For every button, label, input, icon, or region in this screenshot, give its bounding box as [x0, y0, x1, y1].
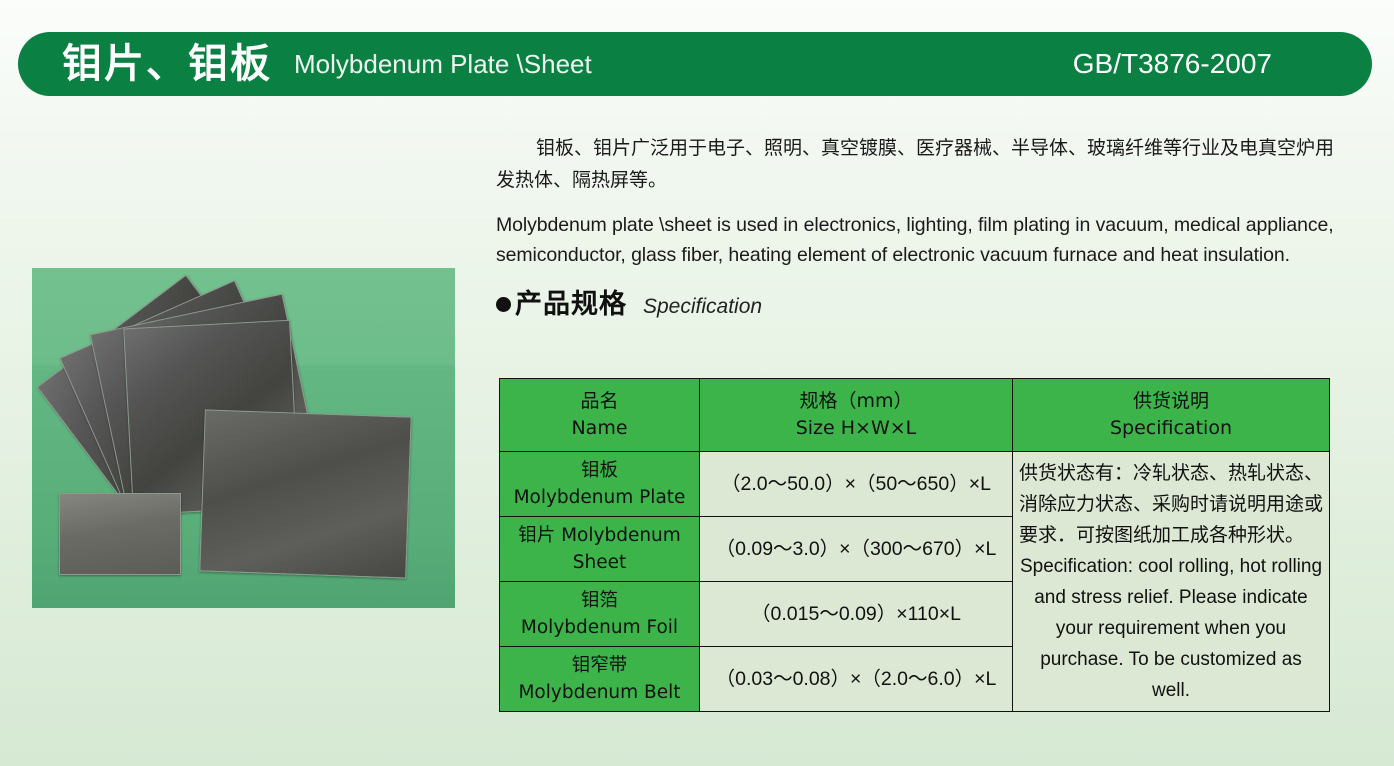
description-chinese: 钼板、钼片广泛用于电子、照明、真空镀膜、医疗器械、半导体、玻璃纤维等行业及电真空… [496, 132, 1346, 196]
page-header-banner: 钼片、钼板 Molybdenum Plate \Sheet GB/T3876-2… [18, 32, 1372, 96]
description-block: 钼板、钼片广泛用于电子、照明、真空镀膜、医疗器械、半导体、玻璃纤维等行业及电真空… [496, 132, 1346, 335]
table-row: 钼板 Molybdenum Plate （2.0～50.0）×（50～650）×… [500, 452, 1330, 517]
specification-heading-english: Specification [643, 295, 762, 319]
table-header-row: 品名 Name 规格（mm） Size H×W×L 供货说明 Specifica… [500, 379, 1330, 452]
row-size-sheet: （0.09～3.0）×（300～670）×L [700, 517, 1013, 582]
page-title-english: Molybdenum Plate \Sheet [294, 51, 592, 77]
description-english: Molybdenum plate \sheet is used in elect… [496, 210, 1346, 270]
row-name-belt: 钼窄带 Molybdenum Belt [500, 647, 700, 712]
specification-cell: 供货状态有：冷轧状态、热轧状态、消除应力状态、采购时请说明用途或要求．可按图纸加… [1013, 452, 1330, 712]
page-title-chinese: 钼片、钼板 [62, 44, 272, 84]
table-header-specification: 供货说明 Specification [1013, 379, 1330, 452]
specification-table: 品名 Name 规格（mm） Size H×W×L 供货说明 Specifica… [499, 378, 1330, 712]
row-name-plate: 钼板 Molybdenum Plate [500, 452, 700, 517]
table-header-name: 品名 Name [500, 379, 700, 452]
row-name-foil: 钼箔 Molybdenum Foil [500, 582, 700, 647]
specification-text-chinese: 供货状态有：冷轧状态、热轧状态、消除应力状态、采购时请说明用途或要求．可按图纸加… [1019, 458, 1323, 551]
standard-code: GB/T3876-2007 [1073, 50, 1272, 78]
specification-heading: 产品规格 Specification [496, 282, 1346, 321]
photo-plate-shape [59, 493, 181, 575]
row-name-sheet: 钼片 Molybdenum Sheet [500, 517, 700, 582]
row-size-plate: （2.0～50.0）×（50～650）×L [700, 452, 1013, 517]
specification-heading-chinese: 产品规格 [515, 282, 627, 321]
table-header-size: 规格（mm） Size H×W×L [700, 379, 1013, 452]
row-size-belt: （0.03～0.08）×（2.0～6.0）×L [700, 647, 1013, 712]
row-size-foil: （0.015～0.09）×110×L [700, 582, 1013, 647]
photo-plate-shape [199, 409, 412, 578]
specification-text-english: Specification: cool rolling, hot rolling… [1019, 551, 1323, 706]
bullet-dot-icon [496, 297, 511, 312]
product-photo [32, 268, 455, 608]
